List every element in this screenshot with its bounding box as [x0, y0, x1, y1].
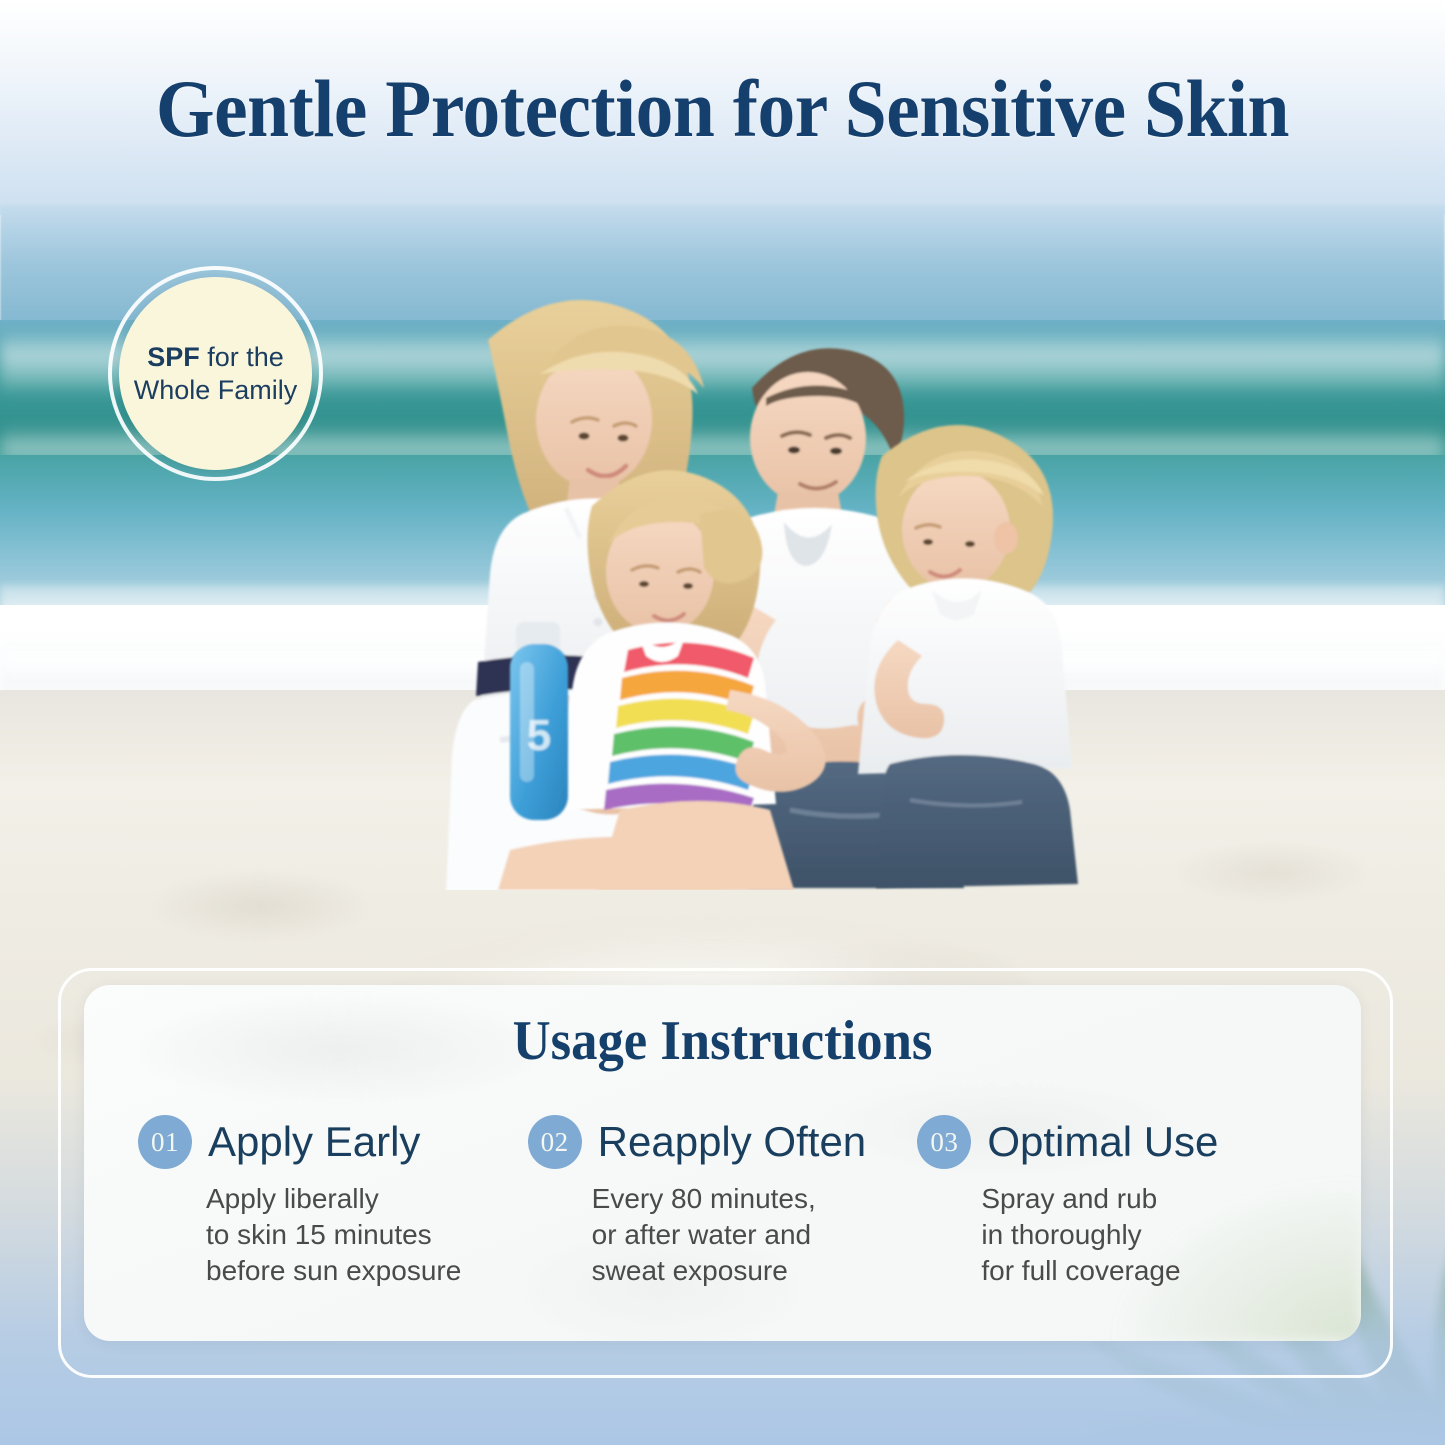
steps-list: 01 Apply Early Apply liberally to skin 1…	[84, 1115, 1361, 1288]
svg-text:5: 5	[527, 711, 551, 760]
badge-text: SPF for the Whole Family	[119, 341, 312, 407]
card-title: Usage Instructions	[122, 1009, 1322, 1073]
step-title: Reapply Often	[598, 1118, 867, 1166]
step-item: 02 Reapply Often Every 80 minutes, or af…	[528, 1115, 918, 1288]
instructions-card: Usage Instructions 01 Apply Early Apply …	[84, 985, 1361, 1341]
step-body: Spray and rub in thoroughly for full cov…	[981, 1181, 1273, 1288]
step-body: Apply liberally to skin 15 minutes befor…	[206, 1181, 494, 1288]
sunscreen-bottle: 5	[510, 622, 568, 820]
page-title: Gentle Protection for Sensitive Skin	[58, 62, 1387, 156]
step-number-badge: 02	[528, 1115, 582, 1169]
badge-fill: SPF for the Whole Family	[119, 277, 312, 470]
step-number-badge: 01	[138, 1115, 192, 1169]
step-number-badge: 03	[917, 1115, 971, 1169]
spf-badge: SPF for the Whole Family	[108, 266, 323, 481]
step-item: 01 Apply Early Apply liberally to skin 1…	[138, 1115, 528, 1288]
badge-emphasis: SPF	[147, 342, 200, 372]
poster-canvas: 5 Gentle Protection for Sens	[0, 0, 1445, 1445]
step-title: Apply Early	[208, 1118, 420, 1166]
step-item: 03 Optimal Use Spray and rub in thorough…	[917, 1115, 1307, 1288]
step-header: 02 Reapply Often	[528, 1115, 884, 1169]
step-header: 01 Apply Early	[138, 1115, 494, 1169]
step-header: 03 Optimal Use	[917, 1115, 1273, 1169]
step-title: Optimal Use	[987, 1118, 1218, 1166]
family-photo-subjects: 5	[370, 270, 1090, 890]
step-body: Every 80 minutes, or after water and swe…	[592, 1181, 884, 1288]
